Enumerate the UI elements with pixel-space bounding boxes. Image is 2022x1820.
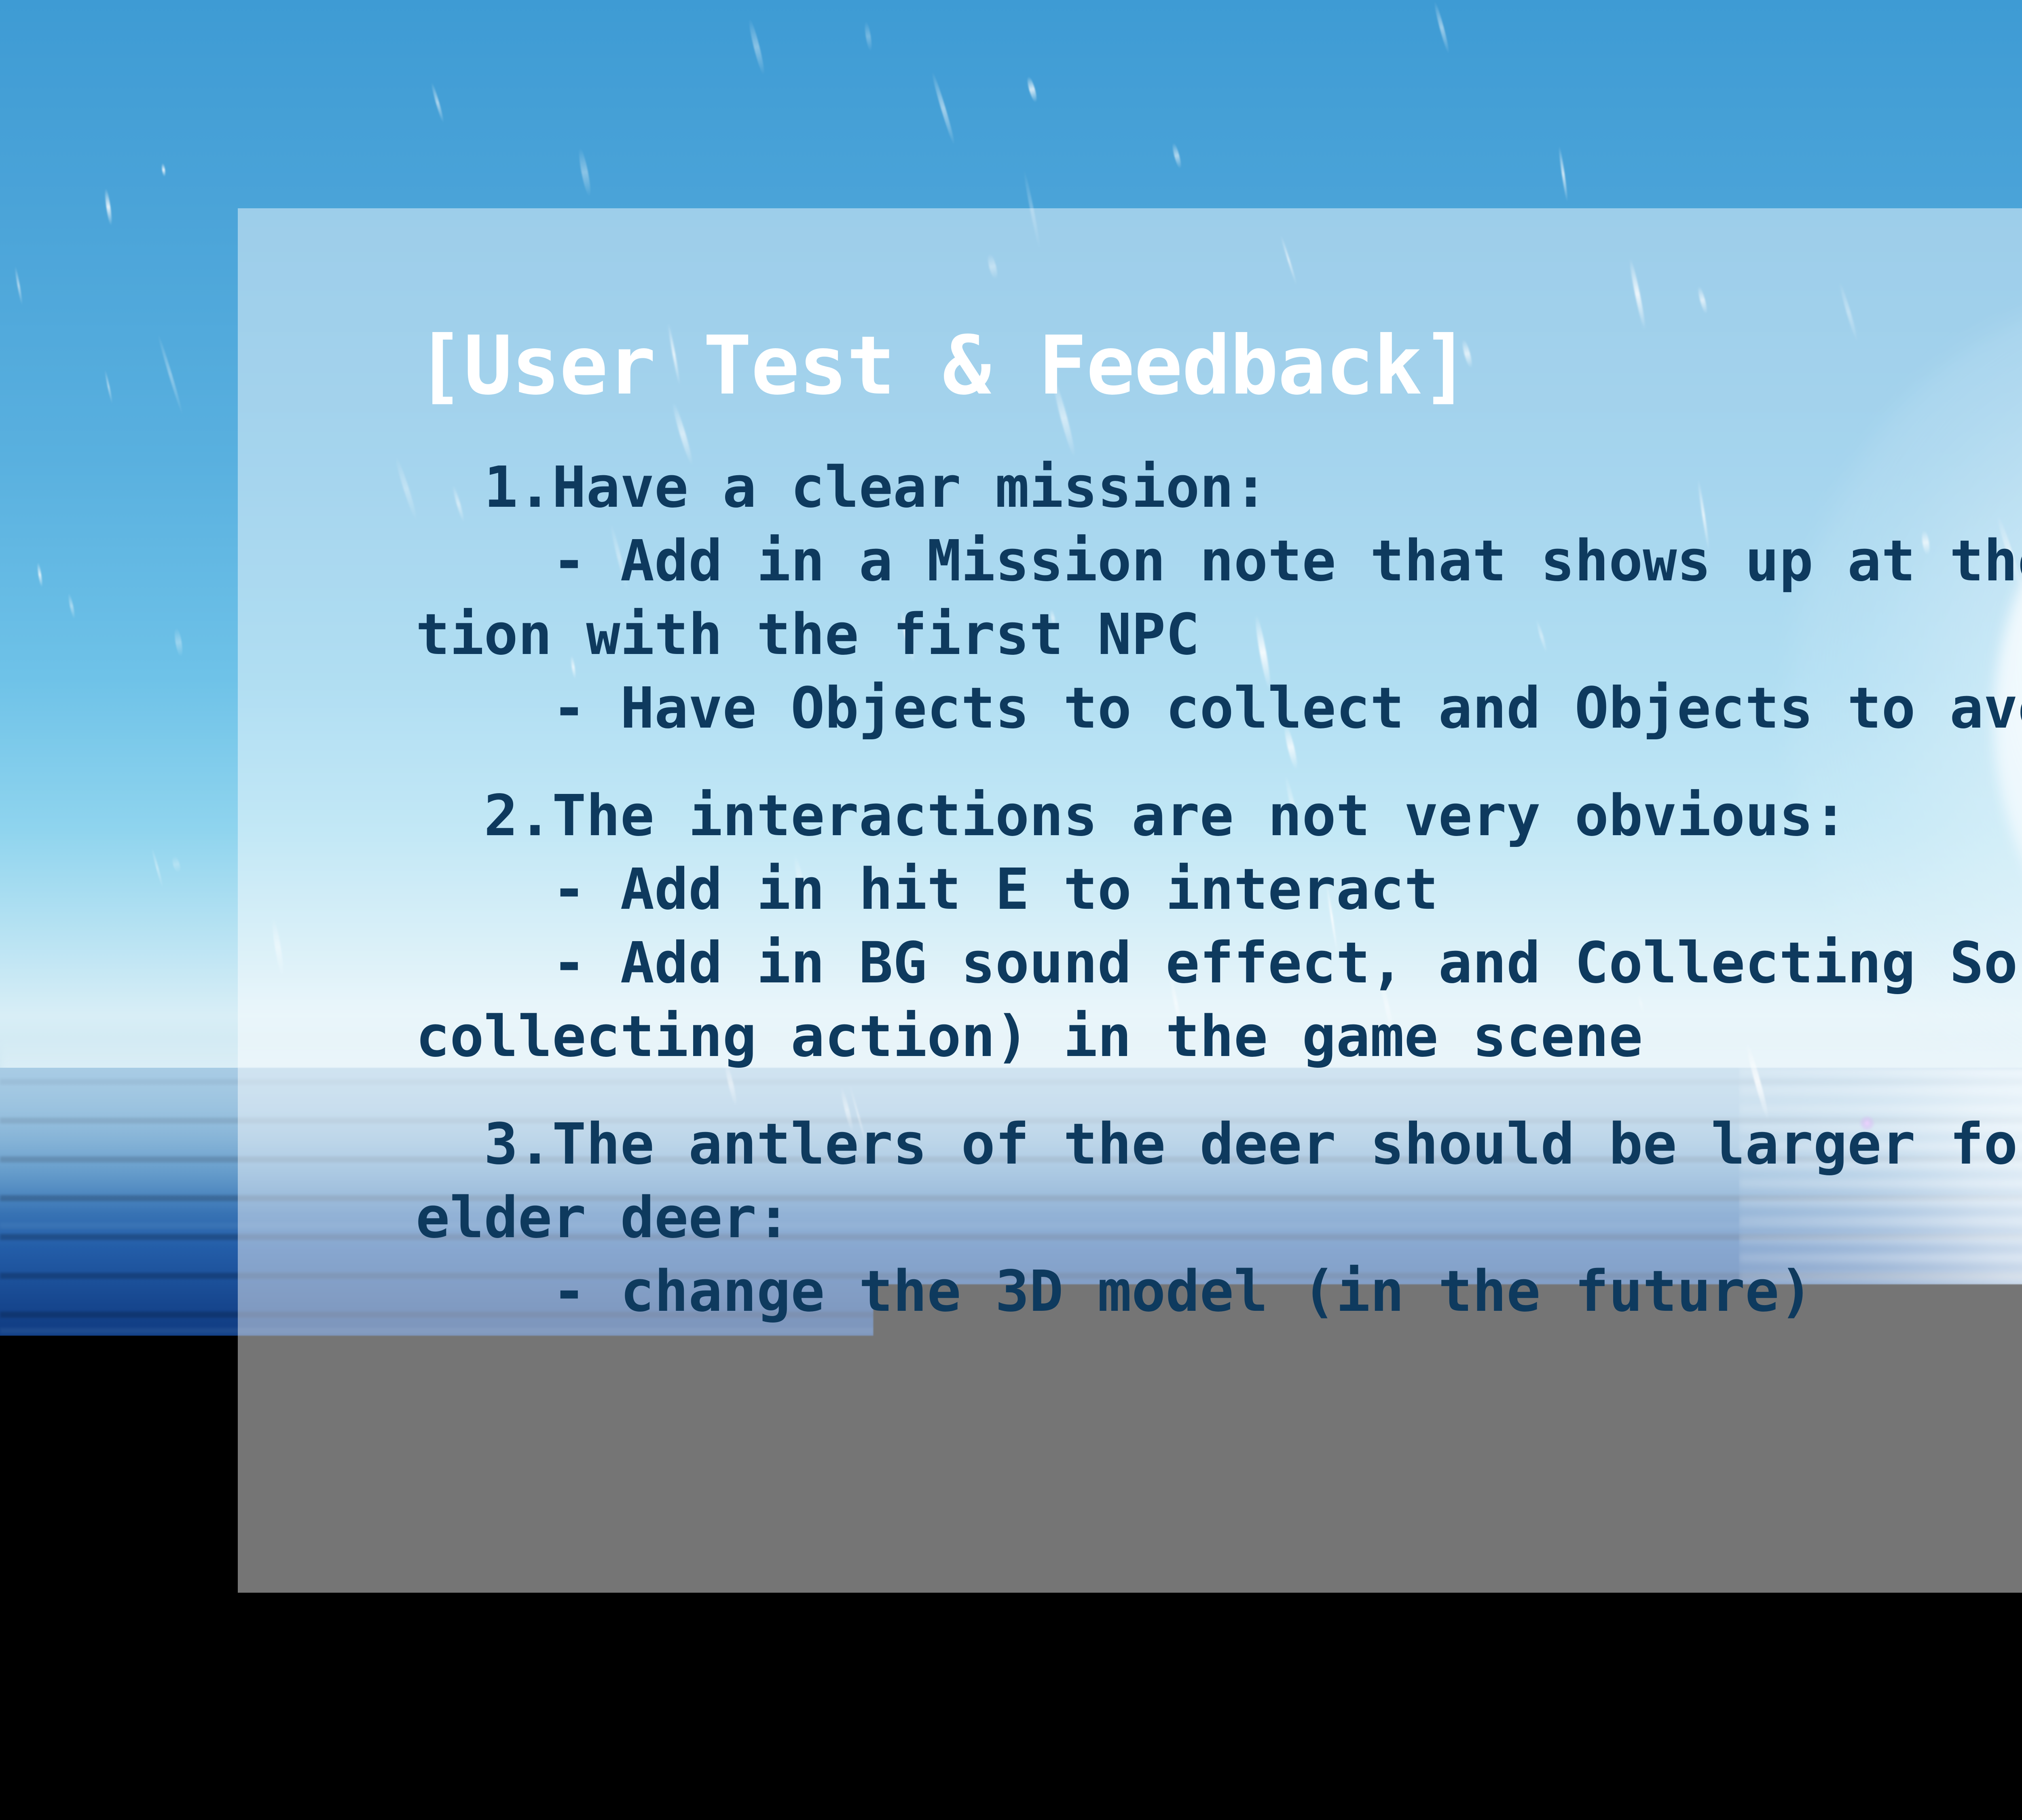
feedback-list: 1.Have a clear mission: - Add in a Missi… (254, 451, 2022, 1329)
feedback-line: collecting action) in the game scene (416, 1000, 2022, 1074)
feedback-line: 2.The interactions are not very obvious: (416, 779, 2022, 853)
slide-panel: [User Test & Feedback] 1.Have a clear mi… (238, 208, 2022, 1593)
slide-content: [User Test & Feedback] 1.Have a clear mi… (416, 208, 2022, 1593)
feedback-line: 3.The antlers of the deer should be larg… (416, 1108, 2022, 1181)
page-title: [User Test & Feedback] (416, 326, 1469, 406)
spacer-line (416, 1074, 2022, 1108)
spacer-line (416, 745, 2022, 779)
feedback-line: - Have Objects to collect and Objects to… (416, 672, 2022, 745)
feedback-line: - change the 3D model (in the future) (416, 1255, 2022, 1329)
feedback-line: - Add in hit E to interact (416, 853, 2022, 927)
feedback-line: - Add in a Mission note that shows up at… (416, 525, 2022, 598)
feedback-line: elder deer: (416, 1181, 2022, 1255)
moon-reflection-lower (1840, 1553, 2022, 1820)
feedback-line: - Add in BG sound effect, and Collecting… (416, 927, 2022, 1000)
feedback-line: 1.Have a clear mission: (416, 451, 2022, 525)
feedback-line: tion with the first NPC (416, 598, 2022, 672)
